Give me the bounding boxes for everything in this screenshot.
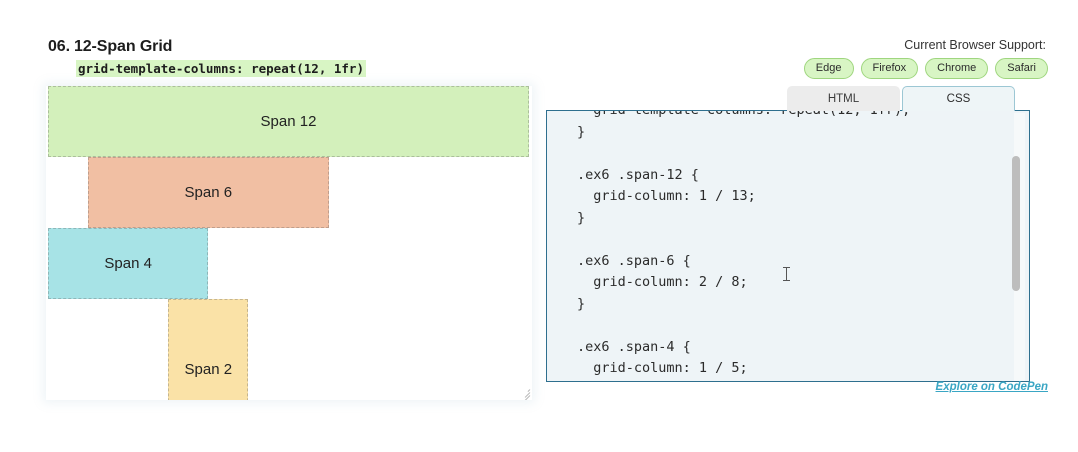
explore-on-codepen-link[interactable]: Explore on CodePen bbox=[936, 381, 1048, 393]
resize-handle[interactable] bbox=[518, 386, 531, 399]
tab-css[interactable]: CSS bbox=[902, 86, 1015, 111]
editor-tabs: HTML CSS bbox=[787, 86, 1015, 111]
code-editor[interactable]: grid-template-columns: repeat(12, 1fr); … bbox=[546, 110, 1030, 382]
grid-demo-panel[interactable]: Span 12 Span 6 Span 4 Span 2 bbox=[46, 86, 532, 400]
mouse-ibeam-cursor bbox=[783, 267, 790, 281]
grid-cell-span-4: Span 4 bbox=[48, 228, 208, 299]
browser-support-label: Current Browser Support: bbox=[904, 38, 1046, 52]
browser-pill-safari: Safari bbox=[995, 58, 1048, 79]
tab-html[interactable]: HTML bbox=[787, 86, 900, 111]
browser-pill-firefox: Firefox bbox=[861, 58, 919, 79]
editor-scrollbar-thumb[interactable] bbox=[1012, 156, 1020, 291]
page-root: 06.12-Span Grid grid-template-columns: r… bbox=[0, 0, 1078, 452]
page-title-text: 12-Span Grid bbox=[74, 38, 172, 55]
grid-cell-span-12: Span 12 bbox=[48, 86, 529, 157]
browser-support-pills: Edge Firefox Chrome Safari bbox=[804, 58, 1048, 79]
page-title-number: 06. bbox=[48, 38, 70, 55]
page-title: 06.12-Span Grid bbox=[48, 38, 172, 56]
browser-pill-chrome: Chrome bbox=[925, 58, 988, 79]
code-editor-content[interactable]: grid-template-columns: repeat(12, 1fr); … bbox=[577, 110, 910, 382]
header-code-snippet: grid-template-columns: repeat(12, 1fr) bbox=[76, 60, 366, 77]
browser-pill-edge: Edge bbox=[804, 58, 854, 79]
grid-cell-span-6: Span 6 bbox=[88, 157, 329, 228]
grid-demo-container: Span 12 Span 6 Span 4 Span 2 bbox=[48, 86, 529, 370]
grid-cell-span-2: Span 2 bbox=[168, 299, 248, 400]
editor-scrollbar-track[interactable] bbox=[1014, 113, 1025, 381]
